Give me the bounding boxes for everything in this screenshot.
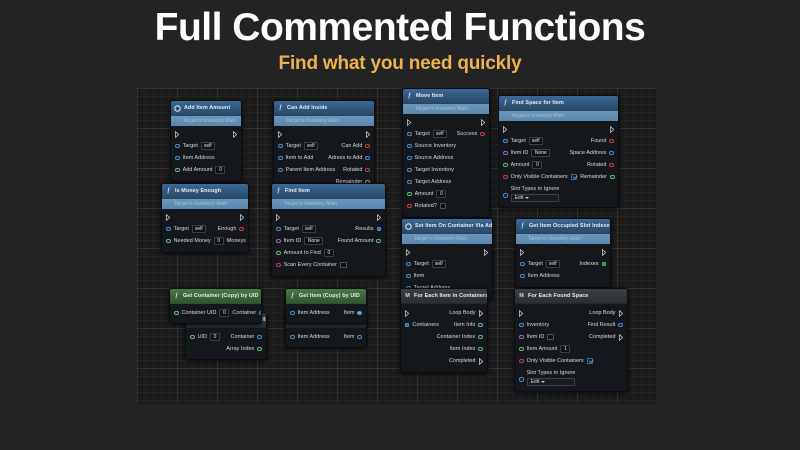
object-pin-icon[interactable] <box>406 274 411 279</box>
scan-every-container-checkbox[interactable] <box>340 262 347 269</box>
node-body: UID 0 Container Array Index <box>186 328 266 359</box>
node-body: Loop Body Containers Item Info Container… <box>401 304 487 372</box>
pin-label: Item Amount <box>527 346 558 352</box>
node-header: f Get Item (Copy) by UID <box>286 289 366 304</box>
node-body: Target self Results Item ID None Found A… <box>272 209 385 276</box>
node-title: Get Item (Copy) by UID <box>299 293 360 299</box>
node-subtitle-row: Target is Inventory Main <box>171 116 241 126</box>
item-id-value-box[interactable] <box>547 334 554 341</box>
pin-label: Adress to Add <box>328 155 362 161</box>
int-pin-icon[interactable] <box>190 335 195 340</box>
object-pin-icon[interactable] <box>407 180 412 185</box>
function-icon: f <box>519 223 526 230</box>
pin-label: Containers <box>412 322 439 328</box>
node-header: f Is Money Enough <box>162 184 248 199</box>
pin-row-target-enough[interactable]: Target self Enough <box>162 223 248 235</box>
object-pin-icon[interactable] <box>407 132 412 137</box>
exec-out-icon[interactable] <box>233 131 238 138</box>
node-for-each-found-space[interactable]: M For Each Found Space Loop Body Invento… <box>514 288 628 392</box>
pin-label: Container Index <box>437 334 476 340</box>
pin-row-item-id-space-address[interactable]: Item ID None Space Address <box>499 147 618 159</box>
function-icon: f <box>502 100 509 107</box>
object-pin-icon[interactable] <box>407 144 412 149</box>
int-pin-icon[interactable] <box>174 311 179 316</box>
pin-row-item-id-completed[interactable]: Item ID Completed <box>515 331 627 343</box>
bool-pin-icon[interactable] <box>365 168 370 173</box>
int-pin-icon[interactable] <box>478 335 483 340</box>
array-pin-icon[interactable] <box>503 193 508 198</box>
pin-row-add-amount[interactable]: Add Amount 0 <box>171 164 241 176</box>
pin-row-containers-item-info[interactable]: Containers Item Info <box>401 319 487 331</box>
node-body: Target self Success Source Inventory Sou… <box>403 114 489 217</box>
int-pin-icon[interactable] <box>407 192 412 197</box>
exec-row <box>402 247 492 258</box>
node-subtitle-row: Target is Inventory Main <box>516 234 610 244</box>
exec-in-icon[interactable] <box>278 131 283 138</box>
node-header: f Get Item Occupied Slot Indexes <box>516 219 610 234</box>
int-pin-icon[interactable] <box>166 239 171 244</box>
object-pin-icon[interactable] <box>407 156 412 161</box>
pin-label: Inventory <box>527 322 550 328</box>
pin-label: Slot Types to Ignore <box>511 186 560 192</box>
pin-row-exec-loop-body[interactable]: Loop Body <box>401 307 487 319</box>
exec-row <box>516 247 610 258</box>
function-icon: f <box>406 93 413 100</box>
pin-row-inventory-find-result[interactable]: Inventory Find Result <box>515 319 627 331</box>
node-title: Add Item Amount <box>184 105 230 111</box>
int-pin-icon[interactable] <box>175 168 180 173</box>
pin-label: Scan Every Container <box>284 262 337 268</box>
name-value-box[interactable]: None <box>531 149 550 157</box>
page-title: Full Commented Functions <box>0 8 800 49</box>
pin-row-amount-rotated[interactable]: Amount 0 Rotated <box>499 159 618 171</box>
pin-label: Source Address <box>415 155 454 161</box>
node-header: f Find Item <box>272 184 385 199</box>
pin-label: Container <box>232 310 256 316</box>
pin-label: Indexes <box>579 261 598 267</box>
pin-label: Moneys <box>227 238 246 244</box>
name-pin-icon[interactable] <box>519 335 524 340</box>
slot-types-edit-dropdown[interactable]: Edit <box>527 378 576 387</box>
page-subtitle: Find what you need quickly <box>0 53 800 75</box>
struct-pin-icon[interactable] <box>257 335 262 340</box>
int-pin-icon[interactable] <box>610 175 615 180</box>
exec-row <box>274 129 374 140</box>
int-value-box[interactable]: 0 <box>436 190 446 198</box>
pin-label: Add Amount <box>183 167 213 173</box>
pin-row-parent-item-address[interactable]: Parent Item Address Rotated <box>274 164 374 176</box>
node-header: M For Each Found Space <box>515 289 627 304</box>
pin-label: Target <box>183 143 198 149</box>
bool-pin-icon[interactable] <box>519 359 524 364</box>
node-add-item-amount[interactable]: Add Item Amount Target is Inventory Main… <box>170 100 242 182</box>
node-subtitle: Target is Inventory Main <box>174 201 227 207</box>
array-pin-icon[interactable] <box>377 227 381 231</box>
function-icon: f <box>289 293 296 300</box>
pin-row-needed-money-moneys[interactable]: Needed Money 0 Moneys <box>162 235 248 247</box>
node-header: Add Item Amount <box>171 101 241 116</box>
node-can-add-inside[interactable]: f Can Add Inside Target is Inventory Mai… <box>273 100 375 194</box>
pin-row-item-index[interactable]: Item Index <box>401 343 487 355</box>
only-visible-containers-checkbox[interactable] <box>587 358 594 365</box>
object-pin-icon[interactable] <box>166 227 171 232</box>
object-pin-icon[interactable] <box>407 168 412 173</box>
node-subtitle: Target is Inventory Main <box>284 201 337 207</box>
object-pin-icon[interactable] <box>503 139 508 144</box>
pin-label: Item Info <box>454 322 475 328</box>
macro-icon: M <box>518 293 525 300</box>
object-pin-icon[interactable] <box>276 227 281 232</box>
object-pin-icon[interactable] <box>406 262 411 267</box>
pin-label: Remainder <box>580 174 607 180</box>
node-find-space-for-item[interactable]: f Find Space for Item Target is Inventor… <box>498 95 619 208</box>
pin-label: Completed <box>589 334 616 340</box>
bool-pin-icon[interactable] <box>480 132 485 137</box>
pin-label: Results <box>355 226 373 232</box>
struct-pin-icon[interactable] <box>357 335 362 340</box>
int-pin-icon[interactable] <box>478 347 483 352</box>
node-subtitle-row: Target is Inventory Main <box>402 234 492 244</box>
dropdown-label: Edit <box>531 379 540 385</box>
int-value-box[interactable]: 0 <box>215 166 225 174</box>
node-title: Find Item <box>285 188 310 194</box>
int-value-box[interactable]: 0 <box>532 161 542 169</box>
pin-label: Target Inventory <box>415 167 454 173</box>
int-value-box[interactable]: 0 <box>210 333 220 341</box>
blueprint-graph-canvas[interactable]: Add Item Amount Target is Inventory Main… <box>137 88 656 404</box>
exec-row <box>162 212 248 223</box>
pin-row-exec-loop-body[interactable]: Loop Body <box>515 307 627 319</box>
array-pin-icon[interactable] <box>405 323 409 327</box>
self-value-box[interactable]: self <box>432 260 446 268</box>
object-pin-icon[interactable] <box>290 311 295 316</box>
struct-pin-icon[interactable] <box>618 323 623 328</box>
object-pin-icon[interactable] <box>175 144 180 149</box>
exec-in-icon[interactable] <box>407 119 412 126</box>
pin-row-slot-types-to-ignore[interactable]: Slot Types to Ignore Edit <box>499 183 618 202</box>
name-value-box[interactable]: None <box>304 237 323 245</box>
slot-types-edit-dropdown[interactable]: Edit <box>511 194 560 203</box>
node-get-item-occupied-slot-indexes[interactable]: f Get Item Occupied Slot Indexes Target … <box>515 218 611 288</box>
node-subtitle-row: Target is Inventory Main <box>272 199 385 209</box>
int-pin-icon[interactable] <box>376 239 381 244</box>
pin-row-source-address[interactable]: Source Address <box>403 152 489 164</box>
exec-out-icon[interactable] <box>479 310 484 317</box>
self-value-box[interactable]: self <box>302 225 316 233</box>
struct-pin-icon[interactable] <box>609 151 614 156</box>
pin-row-target-found[interactable]: Target self Found <box>499 135 618 147</box>
node-title: For Each Item in Containers <box>414 293 488 299</box>
pin-row-only-visible-remainder[interactable]: Only Visible Containers Remainder <box>499 171 618 183</box>
exec-out-icon[interactable] <box>479 358 484 365</box>
pin-label: Target <box>414 261 429 267</box>
exec-in-icon[interactable] <box>175 131 180 138</box>
node-subtitle-row: Target is Inventory Main <box>499 111 618 121</box>
pin-row-container-index[interactable]: Container Index <box>401 331 487 343</box>
pin-row-target[interactable]: Target self <box>171 140 241 152</box>
int-value-box[interactable]: 1 <box>560 345 570 353</box>
node-header: f Find Space for Item <box>499 96 618 111</box>
pin-row-container-uid-container[interactable]: Container UID 0 Container <box>170 307 261 319</box>
bool-pin-icon[interactable] <box>609 139 614 144</box>
node-subtitle: Target is Inventory Main <box>183 118 236 124</box>
node-body: Container UID 0 Container <box>170 304 261 323</box>
int-pin-icon[interactable] <box>276 251 281 256</box>
dropdown-label: Edit <box>515 195 524 201</box>
int-pin-icon[interactable] <box>519 347 524 352</box>
pin-row-item-address[interactable]: Item Address <box>516 270 610 282</box>
pin-label: UID <box>198 334 207 340</box>
exec-out-icon[interactable] <box>481 119 486 126</box>
node-title: Set Item On Container Via Address <box>415 223 493 229</box>
struct-pin-icon[interactable] <box>478 323 483 328</box>
pin-row-item-address-item[interactable]: Item Address Item <box>286 307 366 319</box>
pin-label: Loop Body <box>449 310 475 316</box>
pin-row-target-can-add[interactable]: Target self Can Add <box>274 140 374 152</box>
self-value-box[interactable]: self <box>529 137 543 145</box>
bool-pin-icon[interactable] <box>407 204 412 209</box>
exec-out-icon[interactable] <box>366 131 371 138</box>
exec-row <box>171 129 241 140</box>
pin-row-only-visible-containers[interactable]: Only Visible Containers <box>515 355 627 367</box>
pin-row-target-inventory[interactable]: Target Inventory <box>403 164 489 176</box>
pin-row-item[interactable]: Item <box>402 270 492 282</box>
exec-in-icon[interactable] <box>520 249 525 256</box>
pin-row-completed[interactable]: Completed <box>401 355 487 367</box>
pin-label: Success <box>457 131 478 137</box>
pin-label: Item ID <box>527 334 545 340</box>
macro-icon: M <box>404 293 411 300</box>
node-find-item[interactable]: f Find Item Target is Inventory Main Tar… <box>271 183 386 277</box>
pin-label: Target <box>286 143 301 149</box>
pin-label: Found <box>591 138 607 144</box>
int-value-box[interactable]: 0 <box>219 309 229 317</box>
node-subtitle: Target is Inventory Main <box>528 236 581 242</box>
title-block: Full Commented Functions Find what you n… <box>0 8 800 75</box>
pin-label: Item <box>344 334 355 340</box>
node-title: For Each Found Space <box>528 293 588 299</box>
bool-pin-icon[interactable] <box>503 175 508 180</box>
pin-label: Item Index <box>450 346 476 352</box>
array-pin-icon[interactable] <box>519 377 524 382</box>
pin-row-amount-to-find[interactable]: Amount to Find 0 <box>272 247 385 259</box>
function-icon: f <box>277 105 284 112</box>
rotated-checkbox[interactable] <box>440 203 447 210</box>
node-subtitle: Target is Inventory Main <box>415 106 468 112</box>
pin-row-target[interactable]: Target self <box>402 258 492 270</box>
node-header: f Move Item <box>403 89 489 104</box>
bool-pin-icon[interactable] <box>276 263 281 268</box>
node-get-item-copy-by-uid[interactable]: f Get Item (Copy) by UID Item Address It… <box>285 288 367 324</box>
pin-row-item-address[interactable]: Item Address <box>171 152 241 164</box>
node-for-each-item-in-containers[interactable]: M For Each Item in Containers Loop Body … <box>400 288 488 373</box>
pin-label: Target <box>415 131 430 137</box>
node-title: Find Space for Item <box>512 100 564 106</box>
node-title: Is Money Enough <box>175 188 221 194</box>
self-value-box[interactable]: self <box>433 130 447 138</box>
int-pin-icon[interactable] <box>257 347 262 352</box>
object-pin-icon[interactable] <box>175 156 180 161</box>
pin-row-slot-types-to-ignore[interactable]: Slot Types to Ignore Edit <box>515 367 627 386</box>
self-value-box[interactable]: self <box>192 225 206 233</box>
exec-out-icon[interactable] <box>610 126 615 133</box>
pin-label: Container <box>231 334 255 340</box>
exec-out-icon[interactable] <box>619 334 624 341</box>
pin-row-target-indexes[interactable]: Target self Indexes <box>516 258 610 270</box>
object-pin-icon[interactable] <box>290 335 295 340</box>
pin-label: Item ID <box>284 238 302 244</box>
exec-in-icon[interactable] <box>519 310 524 317</box>
node-body: Item Address Item <box>286 304 366 323</box>
exec-in-icon[interactable] <box>503 126 508 133</box>
exec-out-icon[interactable] <box>240 214 245 221</box>
node-title: Move Item <box>416 93 443 99</box>
chevron-down-icon <box>525 197 529 199</box>
pin-label: Item <box>344 310 355 316</box>
pin-label: Amount to Find <box>284 250 321 256</box>
self-value-box[interactable]: self <box>546 260 560 268</box>
pin-label: Target Address <box>415 179 452 185</box>
int-value-box[interactable]: 0 <box>214 237 224 245</box>
pin-label: Parent Item Address <box>286 167 336 173</box>
pin-label: Target <box>174 226 189 232</box>
pin-label: Amount <box>511 162 530 168</box>
self-value-box[interactable]: self <box>201 142 215 150</box>
exec-in-icon[interactable] <box>406 249 411 256</box>
pin-label: Container UID <box>182 310 217 316</box>
pin-label: Item Address <box>298 310 330 316</box>
pin-label: Amount <box>415 191 434 197</box>
pin-label: Found Amount <box>338 238 374 244</box>
pin-label: Source Inventory <box>415 143 457 149</box>
node-body: Target self Item Address Add Amount 0 <box>171 126 241 181</box>
pin-row-rotated[interactable]: Rotated? <box>403 200 489 212</box>
node-subtitle: Target is Inventory Main <box>511 113 564 119</box>
object-pin-icon[interactable] <box>520 274 525 279</box>
pin-label: Target <box>284 226 299 232</box>
int-pin-icon[interactable] <box>503 163 508 168</box>
pin-row-item-id-found-amount[interactable]: Item ID None Found Amount <box>272 235 385 247</box>
pin-label: Rotated <box>587 162 606 168</box>
node-body: Target self Indexes Item Address <box>516 244 610 287</box>
pin-row-amount[interactable]: Amount 0 <box>403 188 489 200</box>
pin-label: Item Address <box>183 155 215 161</box>
node-body: Item Address Item <box>286 328 366 347</box>
pin-row-item-to-add[interactable]: Item to Add Adress to Add <box>274 152 374 164</box>
only-visible-containers-checkbox[interactable] <box>571 174 578 181</box>
node-subtitle-row: Target is Inventory Main <box>274 116 374 126</box>
node-move-item[interactable]: f Move Item Target is Inventory Main Tar… <box>402 88 490 218</box>
pin-label: Target <box>511 138 526 144</box>
pin-row-target-address[interactable]: Target Address <box>403 176 489 188</box>
pin-row-scan-every-container[interactable]: Scan Every Container <box>272 259 385 271</box>
pin-label: Slot Types to Ignore <box>527 370 576 376</box>
node-subtitle: Target is Inventory Main <box>414 236 467 242</box>
struct-pin-icon[interactable] <box>357 311 362 316</box>
struct-pin-icon[interactable] <box>259 311 262 316</box>
pin-row-target-success[interactable]: Target self Success <box>403 128 489 140</box>
pin-label: Array Index <box>226 346 254 352</box>
pin-label: Completed <box>449 358 476 364</box>
node-body: Loop Body Inventory Find Result Item ID <box>515 304 627 391</box>
pin-row-array-index[interactable]: Array Index <box>186 343 266 355</box>
pin-label: Space Address <box>569 150 606 156</box>
object-pin-icon[interactable] <box>278 168 283 173</box>
object-pin-icon[interactable] <box>520 262 525 267</box>
name-pin-icon[interactable] <box>503 151 508 156</box>
exec-row <box>272 212 385 223</box>
pin-label: Find Result <box>588 322 616 328</box>
struct-pin-icon[interactable] <box>365 156 370 161</box>
exec-row <box>499 124 618 135</box>
node-subtitle: Target is Inventory Main <box>286 118 339 124</box>
exec-out-icon[interactable] <box>377 214 382 221</box>
exec-out-icon[interactable] <box>619 310 624 317</box>
node-title: Can Add Inside <box>287 105 327 111</box>
function-icon: f <box>165 188 172 195</box>
node-get-container-copy-by-uid[interactable]: f Get Container (Copy) by UID Container … <box>169 288 262 324</box>
node-body: Target self Found Item ID None Space Add… <box>499 121 618 207</box>
bool-pin-icon[interactable] <box>609 163 614 168</box>
pin-label: Only Visible Containers <box>511 174 568 180</box>
pin-row-item-address-item[interactable]: Item Address Item <box>286 331 366 343</box>
pin-label: Can Add <box>341 143 362 149</box>
gear-icon <box>405 223 412 230</box>
bool-pin-icon[interactable] <box>365 144 370 149</box>
gear-icon <box>174 105 181 112</box>
pin-row-uid-container[interactable]: UID 0 Container <box>186 331 266 343</box>
pin-row-item-amount[interactable]: Item Amount 1 <box>515 343 627 355</box>
node-header: M For Each Item in Containers <box>401 289 487 304</box>
int-value-box[interactable]: 0 <box>324 249 334 257</box>
pin-label: Needed Money <box>174 238 211 244</box>
pin-row-source-inventory[interactable]: Source Inventory <box>403 140 489 152</box>
pin-label: Rotated? <box>415 203 437 209</box>
bool-pin-icon[interactable] <box>239 227 244 232</box>
exec-in-icon[interactable] <box>166 214 171 221</box>
object-pin-icon[interactable] <box>278 144 283 149</box>
pin-label: Item Address <box>298 334 330 340</box>
name-pin-icon[interactable] <box>276 239 281 244</box>
node-is-money-enough[interactable]: f Is Money Enough Target is Inventory Ma… <box>161 183 249 253</box>
pin-label: Target <box>528 261 543 267</box>
node-subtitle-row: Target is Inventory Main <box>403 104 489 114</box>
exec-row <box>403 117 489 128</box>
array-pin-icon[interactable] <box>602 262 606 266</box>
pin-label: Rotated <box>343 167 362 173</box>
exec-in-icon[interactable] <box>405 310 410 317</box>
pin-label: Only Visible Containers <box>527 358 584 364</box>
pin-label: Loop Body <box>589 310 615 316</box>
exec-out-icon[interactable] <box>602 249 607 256</box>
pin-label: Enough <box>218 226 237 232</box>
pin-label: Item <box>414 273 425 279</box>
self-value-box[interactable]: self <box>304 142 318 150</box>
exec-in-icon[interactable] <box>276 214 281 221</box>
exec-out-icon[interactable] <box>484 249 489 256</box>
node-header: f Get Container (Copy) by UID <box>170 289 261 304</box>
pin-label: Item Address <box>528 273 560 279</box>
pin-row-target-results[interactable]: Target self Results <box>272 223 385 235</box>
pin-label: Item to Add <box>286 155 314 161</box>
node-subtitle-row: Target is Inventory Main <box>162 199 248 209</box>
function-icon: f <box>275 188 282 195</box>
node-body: Target self Enough Needed Money 0 Moneys <box>162 209 248 252</box>
object-pin-icon[interactable] <box>278 156 283 161</box>
node-title: Get Container (Copy) by UID <box>183 293 258 299</box>
pin-label: Item ID <box>511 150 529 156</box>
object-pin-icon[interactable] <box>519 323 524 328</box>
